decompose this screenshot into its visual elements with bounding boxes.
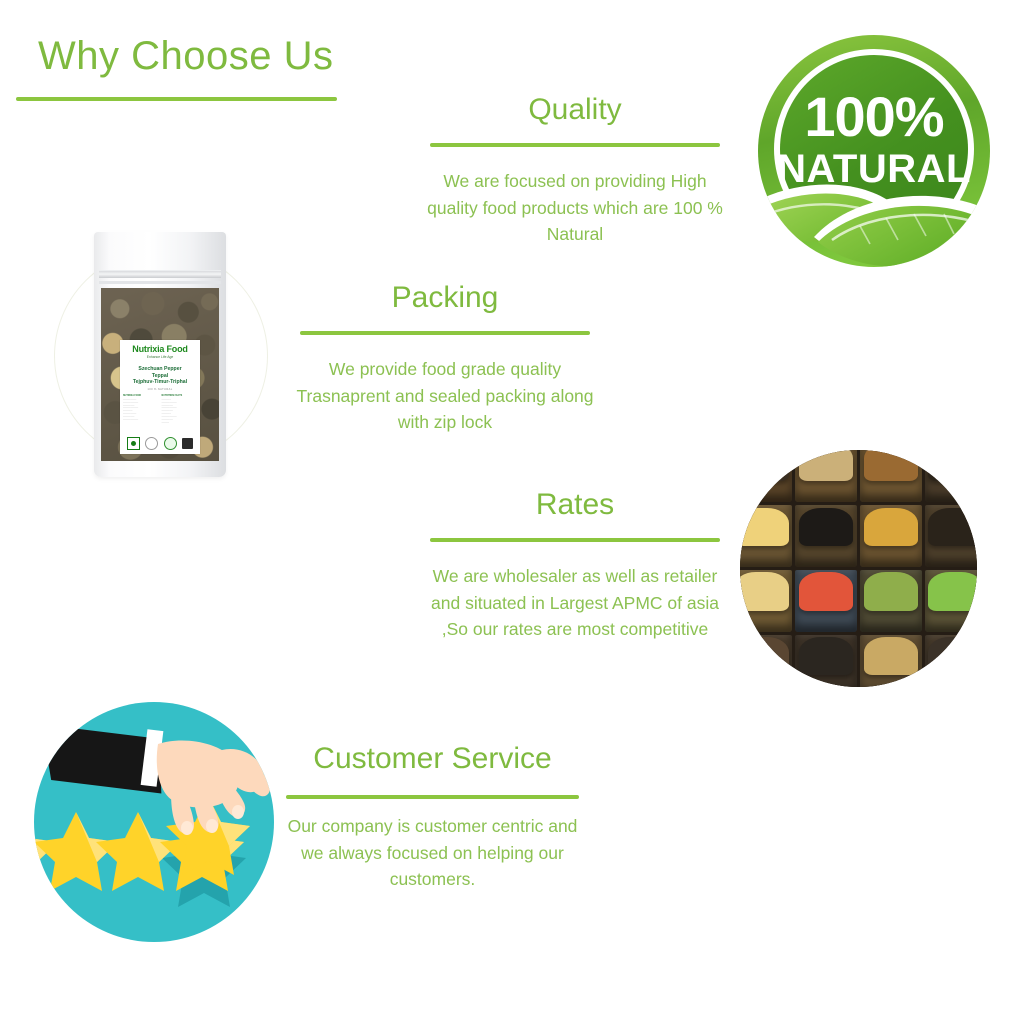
product-natural-note: 100 % NATURAL <box>123 388 197 391</box>
spice-bin <box>925 570 977 632</box>
eco-mark-icon <box>164 437 177 450</box>
fssai-mark-icon <box>145 437 158 450</box>
badge-line-2: NATURAL <box>777 147 971 191</box>
badge-line-1: 100% <box>804 85 943 148</box>
pouch-body: Nutrixia Food Enhance Life Age Szechuan … <box>94 232 226 477</box>
spice-bin <box>740 505 792 567</box>
pouch-zip-lock <box>99 270 221 278</box>
pouch-front-label: Nutrixia Food Enhance Life Age Szechuan … <box>120 340 200 454</box>
spice-bin <box>740 635 792 687</box>
section-title-packing: Packing <box>300 281 590 316</box>
spice-bin <box>860 570 922 632</box>
product-name-line-3: Tejphuv-Timur-Triphal <box>123 379 197 385</box>
pouch-zip-seam <box>99 281 221 284</box>
label-column-left: NUTRIXIA FOOD ————————————————————— ————… <box>123 395 159 424</box>
label-certification-marks <box>124 437 196 450</box>
section-divider-packing <box>300 331 590 335</box>
section-body-rates: We are wholesaler as well as retailer an… <box>420 563 730 643</box>
spice-bin <box>925 635 977 687</box>
section-title-customer-service: Customer Service <box>286 742 579 777</box>
spice-bin <box>860 505 922 567</box>
spice-bin <box>860 635 922 687</box>
spice-bins-grid <box>740 450 977 687</box>
veg-mark-icon <box>127 437 140 450</box>
page-title-underline <box>16 97 337 101</box>
spice-bin <box>925 450 977 502</box>
customer-service-icon <box>32 700 277 945</box>
natural-badge-icon: 100% NATURAL <box>752 30 996 278</box>
spice-bin <box>925 505 977 567</box>
section-divider-customer-service <box>286 795 579 799</box>
product-pouch-photo: Nutrixia Food Enhance Life Age Szechuan … <box>94 232 226 477</box>
section-body-customer-service: Our company is customer centric and we a… <box>286 813 579 893</box>
brand-tagline: Enhance Life Age <box>123 356 197 359</box>
five-star-rating-illustration <box>32 700 277 945</box>
barcode-mark-icon <box>182 438 193 449</box>
spice-bin <box>795 505 857 567</box>
page-title: Why Choose Us <box>38 34 333 78</box>
label-column-right: NUTRITION FACTS ——————————————————— ————… <box>162 395 198 424</box>
spice-bin <box>740 570 792 632</box>
spice-bin <box>795 635 857 687</box>
brand-name: Nutrixia Food <box>123 345 197 354</box>
section-divider-rates <box>430 538 720 542</box>
spice-bin <box>795 450 857 502</box>
section-title-rates: Rates <box>430 488 720 523</box>
section-body-packing: We provide food grade quality Trasnapren… <box>290 356 600 436</box>
100-percent-natural-badge: 100% NATURAL <box>752 30 996 278</box>
section-divider-quality <box>430 143 720 147</box>
spice-bin <box>740 450 792 502</box>
spice-bin <box>795 570 857 632</box>
spice-bin <box>860 450 922 502</box>
spice-market-photo <box>740 450 977 687</box>
section-title-quality: Quality <box>430 93 720 128</box>
section-body-quality: We are focused on providing High quality… <box>420 168 730 248</box>
why-choose-us-infographic: Why Choose Us Quality We are focused on … <box>0 0 1024 1024</box>
